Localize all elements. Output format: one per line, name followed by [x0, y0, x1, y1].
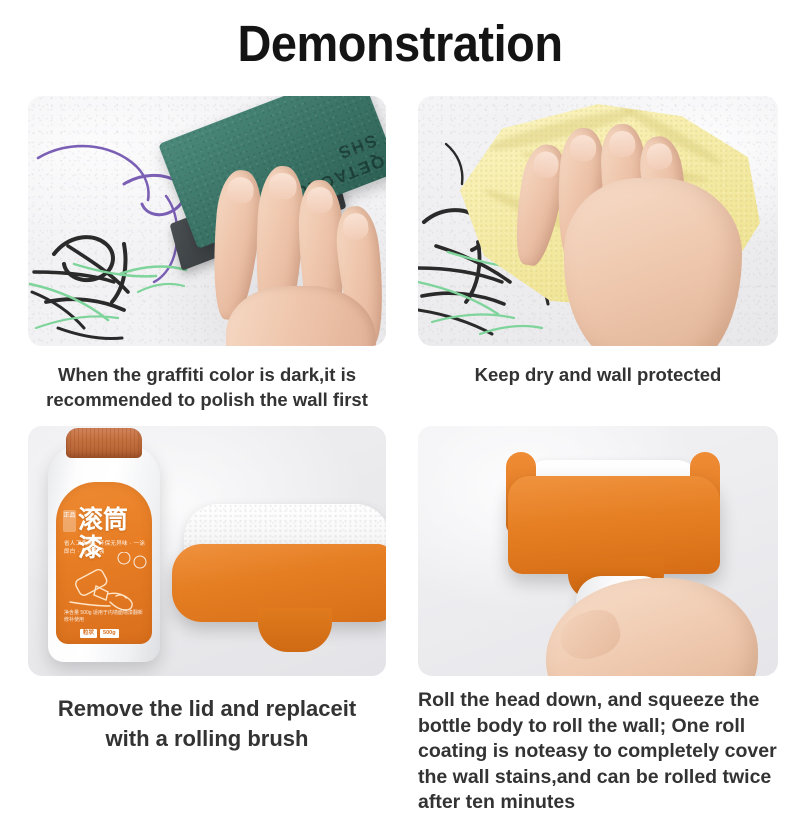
label-weight-badge: 粒状 500g [80, 629, 119, 638]
fingernail [645, 142, 674, 171]
label-footer-text: 净含量 500g 适用于内墙面墙漆翻新修补使用 [64, 610, 144, 624]
step-card-1: QETAOZCK LED 5 SHS When the graffiti col… [28, 96, 386, 412]
roller-head-assembly [172, 504, 386, 654]
step-card-2: Keep dry and wall protected [418, 96, 778, 387]
step-2-caption: Keep dry and wall protected [418, 362, 778, 387]
paint-bottle: 正品 滚筒漆 省人工费用 · 环保无异味 · 一涂即白 · 遮盖力强 [48, 444, 160, 662]
step-card-3: 正品 滚筒漆 省人工费用 · 环保无异味 · 一涂即白 · 遮盖力强 [28, 426, 386, 754]
roller-neck-connector [258, 608, 332, 652]
fingernail [342, 212, 370, 240]
roller-line-art-icon [62, 552, 148, 614]
step-2-photo [418, 96, 778, 346]
step-1-caption: When the graffiti color is dark,it is re… [28, 362, 386, 412]
badge-weight: 500g [100, 629, 119, 638]
page-title: Demonstration [32, 14, 768, 74]
label-side-tag: 正品 [63, 510, 76, 532]
step-4-photo [418, 426, 778, 676]
badge-type: 粒状 [80, 629, 97, 638]
palm [564, 178, 742, 346]
step-4-caption: Roll the head down, and squeeze the bott… [418, 688, 778, 816]
bottle-lid [66, 428, 142, 458]
bottle-label: 正品 滚筒漆 省人工费用 · 环保无异味 · 一涂即白 · 遮盖力强 [56, 482, 152, 644]
fingernail [227, 176, 256, 204]
fingernail [306, 187, 333, 214]
step-3-caption: Remove the lid and replaceit with a roll… [28, 694, 386, 754]
hand-wiping-wall [514, 122, 762, 346]
fingernail [609, 131, 636, 158]
fingernail [531, 150, 560, 180]
demo-grid: QETAOZCK LED 5 SHS When the graffiti col… [0, 96, 800, 796]
hand-holding-sanding-block [204, 166, 386, 346]
fingernail [268, 172, 297, 199]
step-3-photo: 正品 滚筒漆 省人工费用 · 环保无异味 · 一涂即白 · 遮盖力强 [28, 426, 386, 676]
step-1-photo: QETAOZCK LED 5 SHS [28, 96, 386, 346]
step-card-4: Roll the head down, and squeeze the bott… [418, 426, 778, 816]
fingernail [569, 134, 597, 162]
